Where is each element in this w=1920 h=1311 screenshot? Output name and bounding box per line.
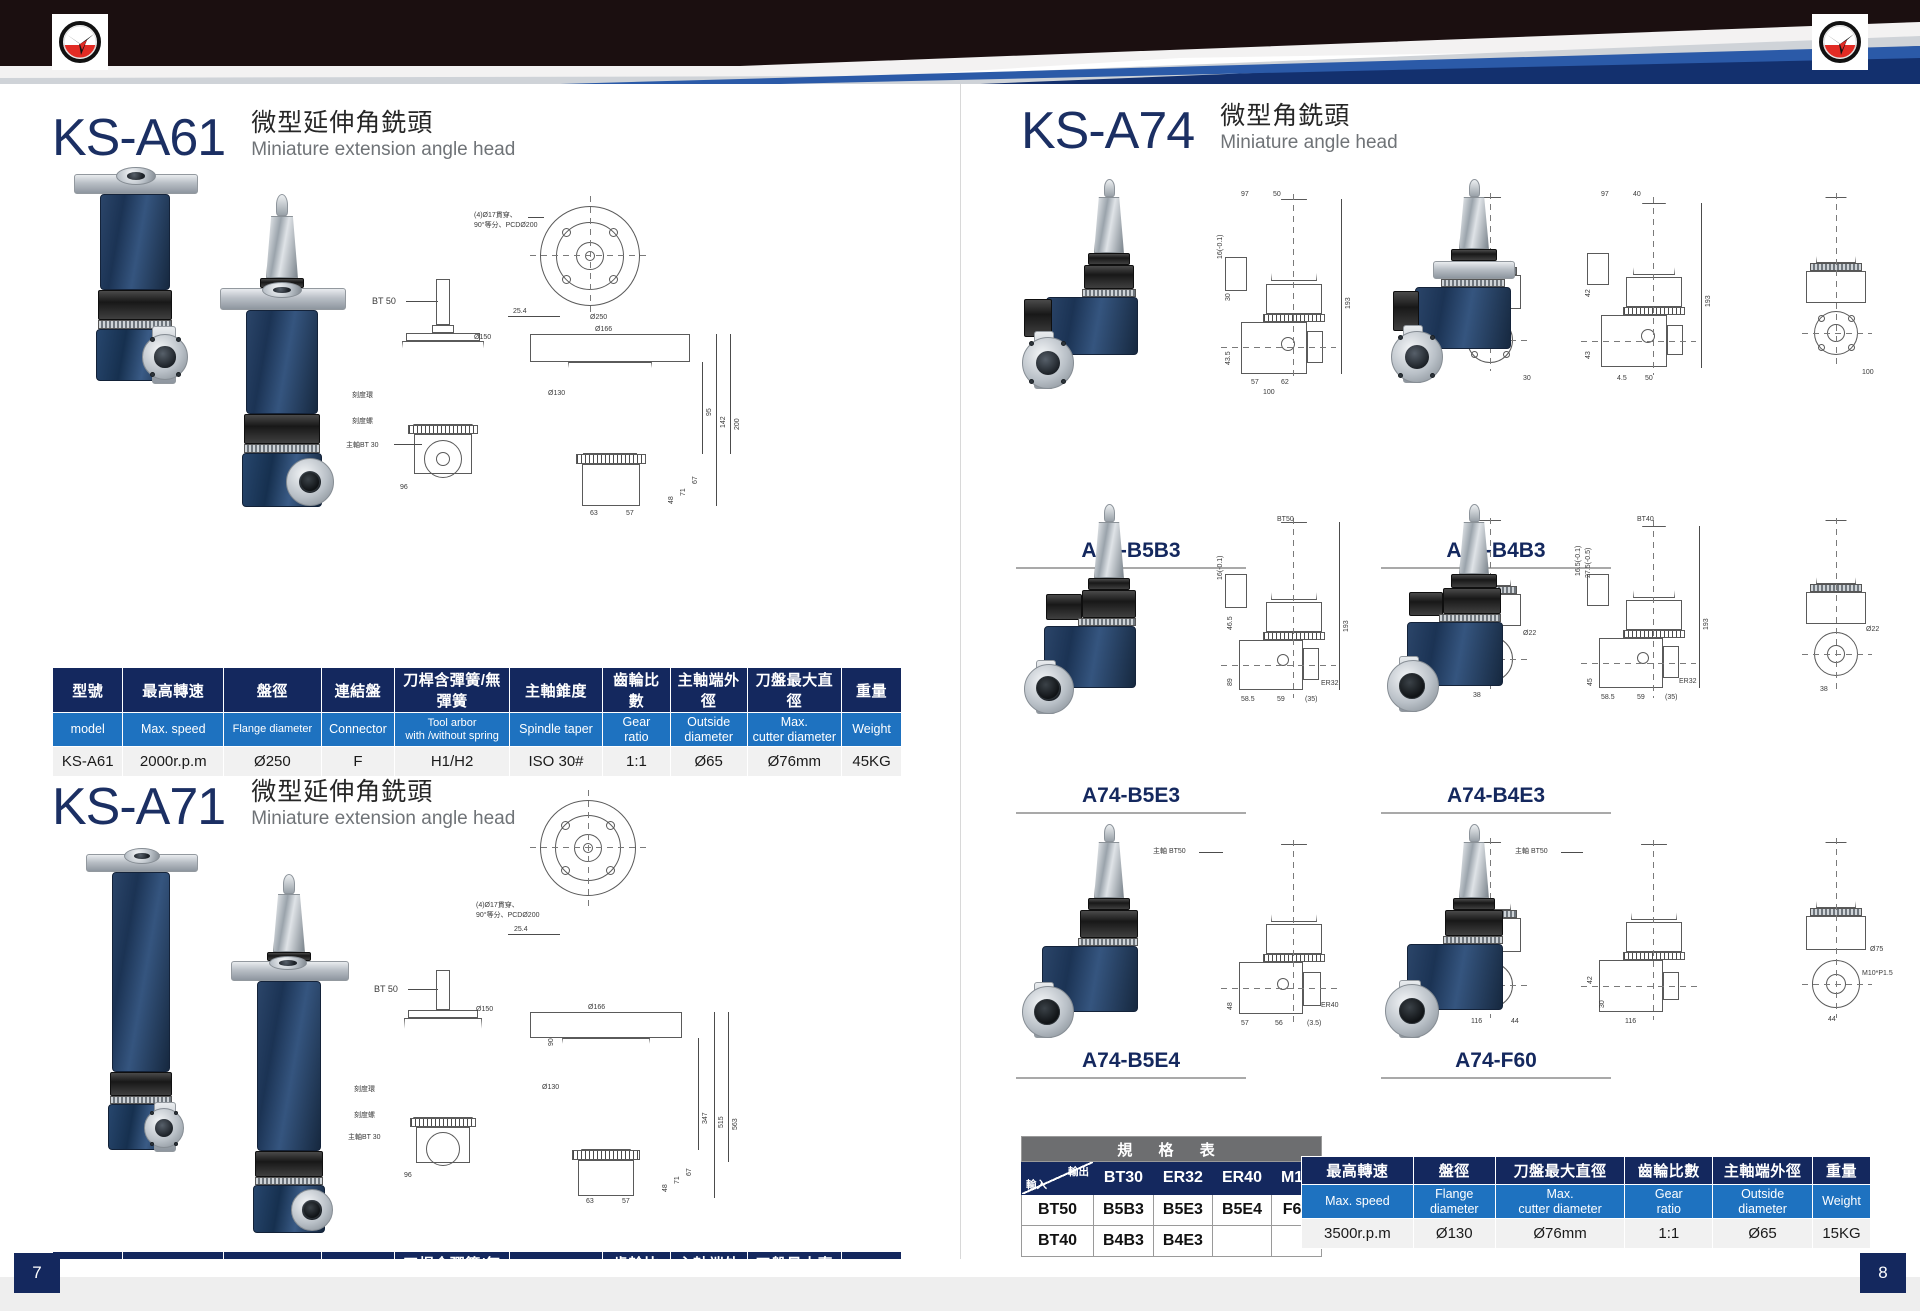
dim-45: 30 xyxy=(1225,293,1232,301)
product-photo-a74-b5e4 xyxy=(1016,824,1216,1074)
right-page: KS-A74 微型角銑頭 Miniature angle head xyxy=(960,84,1920,1311)
corner-out-label: 輸出 xyxy=(1068,1164,1089,1179)
note-scale-ring: 刻度環 xyxy=(354,1084,375,1094)
product-name-cn: 微型角銑頭 xyxy=(1220,102,1397,131)
th-en-cutter: Max. cutter diameter xyxy=(747,713,842,747)
matrix-cell: B5E3 xyxy=(1153,1195,1212,1226)
note-hole-1: (4)Ø17貫穿、 xyxy=(476,900,519,910)
product-name-en: Miniature extension angle head xyxy=(251,138,515,162)
th-cn-cutter: 刀盤最大直徑 xyxy=(747,668,842,713)
drawing-a74-f60: 主軸 BT50 42 30 116 xyxy=(1571,834,1771,1074)
th-cn-gear: 齒輪比數 xyxy=(603,668,671,713)
table-row: KS-A61 2000r.p.m Ø250 F H1/H2 ISO 30# 1:… xyxy=(53,747,902,777)
product-photo-ks-a71-b xyxy=(215,874,405,1264)
th-en-speed: Max. speed xyxy=(1302,1185,1414,1219)
note-hole-2: 90°等分、PCDØ200 xyxy=(474,220,538,230)
dim-d130: Ø130 xyxy=(548,390,565,397)
dim-67: 67 xyxy=(686,1168,693,1176)
dim-d22: Ø22 xyxy=(1866,626,1879,633)
th-cn-taper: 主軸錐度 xyxy=(509,668,602,713)
model-caption-a74-b5e4: A74-B5E4 xyxy=(1016,1049,1246,1079)
th-en-connector: Connector xyxy=(321,713,395,747)
dim-142: 142 xyxy=(720,416,727,428)
spec-matrix-table: 規 格 表 輸出 輸入 BT30 ER32 ER40 M10 BT50 B5B3… xyxy=(1021,1136,1322,1257)
th-cn-connector: 連結盤 xyxy=(321,668,395,713)
dim-58-5: 58.5 xyxy=(1241,696,1255,703)
note-hole-2: 90°等分、PCDØ200 xyxy=(476,910,540,920)
dim-d250: Ø250 xyxy=(590,314,607,321)
matrix-header-row: 輸出 輸入 BT30 ER32 ER40 M10 xyxy=(1022,1162,1322,1195)
td-weight: 45KG xyxy=(842,747,902,777)
dim-97: 97 xyxy=(1241,191,1249,198)
th-cn-gear: 齒輪比數 xyxy=(1625,1157,1713,1185)
note-hole-1: (4)Ø17貫穿、 xyxy=(474,210,517,220)
matrix-row-label: BT40 xyxy=(1022,1226,1094,1257)
dim-90: 90 xyxy=(548,1038,555,1046)
matrix-col-er40: ER40 xyxy=(1212,1162,1271,1195)
dim-116: 116 xyxy=(1625,1018,1636,1025)
dim-d150: Ø150 xyxy=(476,1006,493,1013)
dim-563: 563 xyxy=(732,1118,739,1130)
technical-drawing-ks-a61: (4)Ø17貫穿、 90°等分、PCDØ200 25.4 BT 50 刻度環 刻… xyxy=(430,184,930,534)
dim-63: 63 xyxy=(590,510,598,517)
product-photo-a74-f60 xyxy=(1381,824,1581,1074)
dim-bt30-b4: 100 xyxy=(1862,369,1874,376)
matrix-col-bt30: BT30 xyxy=(1094,1162,1154,1195)
dim-57: 57 xyxy=(1241,1020,1249,1027)
dim-57: 57 xyxy=(626,510,634,517)
spec-table-ks-a61: 型號 最高轉速 盤徑 連結盤 刀桿含彈簧/無彈簧 主軸錐度 齒輪比數 主軸端外徑… xyxy=(52,667,902,777)
th-en-taper: Spindle taper xyxy=(509,713,602,747)
td-outside: Ø65 xyxy=(1713,1219,1813,1249)
note-clamp: 刻度螺 xyxy=(352,416,373,426)
th-en-outside: Outside diameter xyxy=(670,713,747,747)
model-caption-a74-b5e3: A74-B5E3 xyxy=(1016,784,1246,814)
td-speed: 2000r.p.m xyxy=(123,747,224,777)
th-en-gear: Gear ratio xyxy=(1625,1185,1713,1219)
dim-515: 515 xyxy=(718,1116,725,1128)
dim-35b: (3.5) xyxy=(1307,1020,1321,1027)
dim-63: 63 xyxy=(586,1198,594,1205)
dim-67: 67 xyxy=(692,476,699,484)
product-name-cn: 微型延伸角銑頭 xyxy=(251,109,515,138)
matrix-row-bt40: BT40 B4B3 B4E3 xyxy=(1022,1226,1322,1257)
th-en-arbor: Tool arbor with /without spring xyxy=(395,713,510,747)
company-logo-icon xyxy=(57,19,103,65)
td-speed: 3500r.p.m xyxy=(1302,1219,1414,1249)
td-weight: 15KG xyxy=(1813,1219,1871,1249)
dim-48: 48 xyxy=(662,1184,669,1192)
td-connector: F xyxy=(321,747,395,777)
matrix-cell-empty xyxy=(1212,1226,1271,1257)
dim-193: 193 xyxy=(1343,620,1350,632)
dim-30: 30 xyxy=(1599,1000,1606,1008)
dim-89: 89 xyxy=(1227,678,1234,686)
th-cn-cutter: 刀盤最大直徑 xyxy=(1495,1157,1625,1185)
dim-d130: Ø130 xyxy=(542,1084,559,1091)
th-cn-model: 型號 xyxy=(53,668,123,713)
spec-table-ks-a74: 最高轉速 盤徑 刀盤最大直徑 齒輪比數 主軸端外徑 重量 Max. speed … xyxy=(1301,1156,1871,1249)
table-header-cn-row: 最高轉速 盤徑 刀盤最大直徑 齒輪比數 主軸端外徑 重量 xyxy=(1302,1157,1871,1185)
product-code: KS-A61 xyxy=(52,112,225,164)
product-photo-ks-a61-b xyxy=(208,194,398,534)
dim-57: 57 xyxy=(622,1198,630,1205)
matrix-row-label: BT50 xyxy=(1022,1195,1094,1226)
dim-25-4: 25.4 xyxy=(513,308,527,315)
matrix-caption-row: 規 格 表 xyxy=(1022,1137,1322,1162)
dim-96-a: 96 xyxy=(400,484,408,491)
label-spindle-bt50: 主軸 BT50 xyxy=(1515,846,1548,856)
technical-drawing-ks-a71: (4)Ø17貫穿、 90°等分、PCDØ200 25.4 BT 50 刻度環 刻… xyxy=(430,784,930,1184)
dim-d75: Ø75 xyxy=(1870,946,1883,953)
note-clamp: 刻度螺 xyxy=(354,1110,375,1120)
dim-d166: Ø166 xyxy=(588,1004,605,1011)
dim-48: 48 xyxy=(668,496,675,504)
th-cn-speed: 最高轉速 xyxy=(1302,1157,1414,1185)
note-scale-ring: 刻度環 xyxy=(352,390,373,400)
th-cn-weight: 重量 xyxy=(1813,1157,1871,1185)
th-en-speed: Max. speed xyxy=(123,713,224,747)
matrix-cell: B5E4 xyxy=(1212,1195,1271,1226)
company-logo-right xyxy=(1812,14,1868,70)
th-cn-outside: 主軸端外徑 xyxy=(1713,1157,1813,1185)
dim-25-4: 25.4 xyxy=(514,926,528,933)
dim-193: 193 xyxy=(1345,297,1352,309)
matrix-corner-cell: 輸出 輸入 xyxy=(1022,1162,1094,1195)
drawing-a74-f60-side: M10*P1.5 Ø75 44 xyxy=(1766,834,1920,1074)
th-en-flange: Flange diameter xyxy=(224,713,322,747)
note-spindle: 主軸BT 30 xyxy=(348,1132,381,1142)
label-bt40: BT40 xyxy=(1637,516,1654,523)
corner-in-label: 輸入 xyxy=(1026,1177,1047,1192)
label-spindle-bt50: 主軸 BT50 xyxy=(1153,846,1186,856)
dim-48: 48 xyxy=(1227,1002,1234,1010)
dim-43: 43 xyxy=(1585,351,1592,359)
dim-16-tol: 16(-0.1) xyxy=(1217,555,1224,580)
matrix-cell: B5B3 xyxy=(1094,1195,1154,1226)
company-logo-icon xyxy=(1817,19,1863,65)
matrix-cell: B4B3 xyxy=(1094,1226,1154,1257)
matrix-col-er32: ER32 xyxy=(1153,1162,1212,1195)
dim-100: 100 xyxy=(1263,389,1275,396)
dim-4-5: 4.5 xyxy=(1617,375,1627,382)
drawing-a74-b4b3-side: 100 xyxy=(1766,189,1920,429)
td-taper: ISO 30# xyxy=(509,747,602,777)
dim-71: 71 xyxy=(674,1176,681,1184)
dim-43-5: 43.5 xyxy=(1225,351,1232,365)
table-header-cn-row: 型號 最高轉速 盤徑 連結盤 刀桿含彈簧/無彈簧 主軸錐度 齒輪比數 主軸端外徑… xyxy=(53,668,902,713)
product-title-ks-a74: KS-A74 微型角銑頭 Miniature angle head xyxy=(1021,102,1398,157)
th-en-gear: Gear ratio xyxy=(603,713,671,747)
th-en-outside: Outside diameter xyxy=(1713,1185,1813,1219)
drawing-a74-b4e3: 193 16.5(-0.1) 27.5(-0.5) 45 58.5 59 (35… xyxy=(1571,514,1771,754)
dim-200: 200 xyxy=(734,418,741,430)
dim-16-5: 16.5(-0.1) xyxy=(1575,546,1582,576)
matrix-cell: B4E3 xyxy=(1153,1226,1212,1257)
product-photo-a74-b5e3 xyxy=(1016,504,1216,754)
product-name-en: Miniature angle head xyxy=(1220,131,1397,155)
dim-193: 193 xyxy=(1703,618,1710,630)
td-gear: 1:1 xyxy=(603,747,671,777)
td-cutter: Ø76mm xyxy=(1495,1219,1625,1249)
top-banner xyxy=(0,0,1920,84)
page-number-right: 8 xyxy=(1860,1253,1906,1293)
th-en-weight: Weight xyxy=(842,713,902,747)
dim-16-tol: 16(-0.1) xyxy=(1217,234,1224,259)
th-en-model: model xyxy=(53,713,123,747)
label-bt50: BT 50 xyxy=(372,296,396,306)
td-arbor: H1/H2 xyxy=(395,747,510,777)
label-bt50: BT 50 xyxy=(374,984,398,994)
th-cn-flange: 盤徑 xyxy=(1413,1157,1495,1185)
dim-56: 56 xyxy=(1275,1020,1283,1027)
th-cn-flange: 盤徑 xyxy=(224,668,322,713)
label-er32: ER32 xyxy=(1679,678,1697,685)
td-cutter: Ø76mm xyxy=(747,747,842,777)
matrix-caption: 規 格 表 xyxy=(1022,1137,1322,1162)
td-gear: 1:1 xyxy=(1625,1219,1713,1249)
product-code: KS-A74 xyxy=(1021,105,1194,157)
dim-50: 50 xyxy=(1273,191,1281,198)
dim-42: 42 xyxy=(1587,976,1594,984)
product-photo-a74-b5b3 xyxy=(1016,179,1216,429)
dim-m10: M10*P1.5 xyxy=(1862,970,1893,977)
left-page: KS-A61 微型延伸角銑頭 Miniature extension angle… xyxy=(0,84,960,1311)
dim-42: 42 xyxy=(1585,289,1592,297)
dim-d166: Ø166 xyxy=(595,326,612,333)
dim-97: 97 xyxy=(1601,191,1609,198)
matrix-row-bt50: BT50 B5B3 B5E3 B5E4 F60 xyxy=(1022,1195,1322,1226)
catalog-page: KS-A61 微型延伸角銑頭 Miniature extension angle… xyxy=(0,0,1920,1311)
model-caption-a74-f60: A74-F60 xyxy=(1381,1049,1611,1079)
dim-59: 59 xyxy=(1637,694,1645,701)
td-model: KS-A61 xyxy=(53,747,123,777)
drawing-a74-b4e3-side: Ø22 38 xyxy=(1766,514,1920,754)
dim-35: (35) xyxy=(1665,694,1677,701)
th-cn-arbor: 刀桿含彈簧/無彈簧 xyxy=(395,668,510,713)
td-flange: Ø250 xyxy=(224,747,322,777)
td-outside: Ø65 xyxy=(670,747,747,777)
dim-96-b: 96 xyxy=(404,1172,412,1179)
note-spindle: 主軸BT 30 xyxy=(346,440,379,450)
dim-35: (35) xyxy=(1305,696,1317,703)
th-cn-outside: 主軸端外徑 xyxy=(670,668,747,713)
td-flange: Ø130 xyxy=(1413,1219,1495,1249)
th-en-cutter: Max. cutter diameter xyxy=(1495,1185,1625,1219)
dim-95: 95 xyxy=(706,408,713,416)
table-header-en-row: model Max. speed Flange diameter Connect… xyxy=(53,713,902,747)
dim-59: 59 xyxy=(1277,696,1285,703)
label-er32: ER32 xyxy=(1321,680,1339,687)
page-number-left: 7 xyxy=(14,1253,60,1293)
dim-71: 71 xyxy=(680,488,687,496)
dim-27-5: 27.5(-0.5) xyxy=(1585,548,1592,578)
dim-347: 347 xyxy=(702,1112,709,1124)
dim-40: 40 xyxy=(1633,191,1641,198)
company-logo-left xyxy=(52,14,108,70)
dim-50: 50 xyxy=(1645,375,1653,382)
th-cn-speed: 最高轉速 xyxy=(123,668,224,713)
product-photo-a74-b4b3 xyxy=(1381,179,1581,429)
dim-193: 193 xyxy=(1705,295,1712,307)
product-photo-a74-b4e3 xyxy=(1381,504,1581,754)
th-en-flange: Flange diameter xyxy=(1413,1185,1495,1219)
dim-38: 38 xyxy=(1820,686,1828,693)
table-row: 3500r.p.m Ø130 Ø76mm 1:1 Ø65 15KG xyxy=(1302,1219,1871,1249)
label-er40: ER40 xyxy=(1321,1002,1339,1009)
dim-44: 44 xyxy=(1828,1016,1836,1023)
dim-45: 45 xyxy=(1587,678,1594,686)
dim-58-5: 58.5 xyxy=(1601,694,1615,701)
footer-bar xyxy=(0,1277,1920,1311)
table-header-en-row: Max. speed Flange diameter Max. cutter d… xyxy=(1302,1185,1871,1219)
th-en-weight: Weight xyxy=(1813,1185,1871,1219)
label-bt50: BT50 xyxy=(1277,516,1294,523)
dim-d150: Ø150 xyxy=(474,334,491,341)
page-footer xyxy=(0,1259,1920,1311)
dim-57: 57 xyxy=(1251,379,1259,386)
th-cn-weight: 重量 xyxy=(842,668,902,713)
dim-62: 62 xyxy=(1281,379,1289,386)
drawing-a74-b4b3: 193 97 40 42 43 4.5 50 xyxy=(1571,189,1771,429)
product-title-ks-a61: KS-A61 微型延伸角銑頭 Miniature extension angle… xyxy=(52,109,515,164)
dim-46-5: 46.5 xyxy=(1227,616,1234,630)
product-code: KS-A71 xyxy=(52,781,225,833)
model-caption-a74-b4e3: A74-B4E3 xyxy=(1381,784,1611,814)
